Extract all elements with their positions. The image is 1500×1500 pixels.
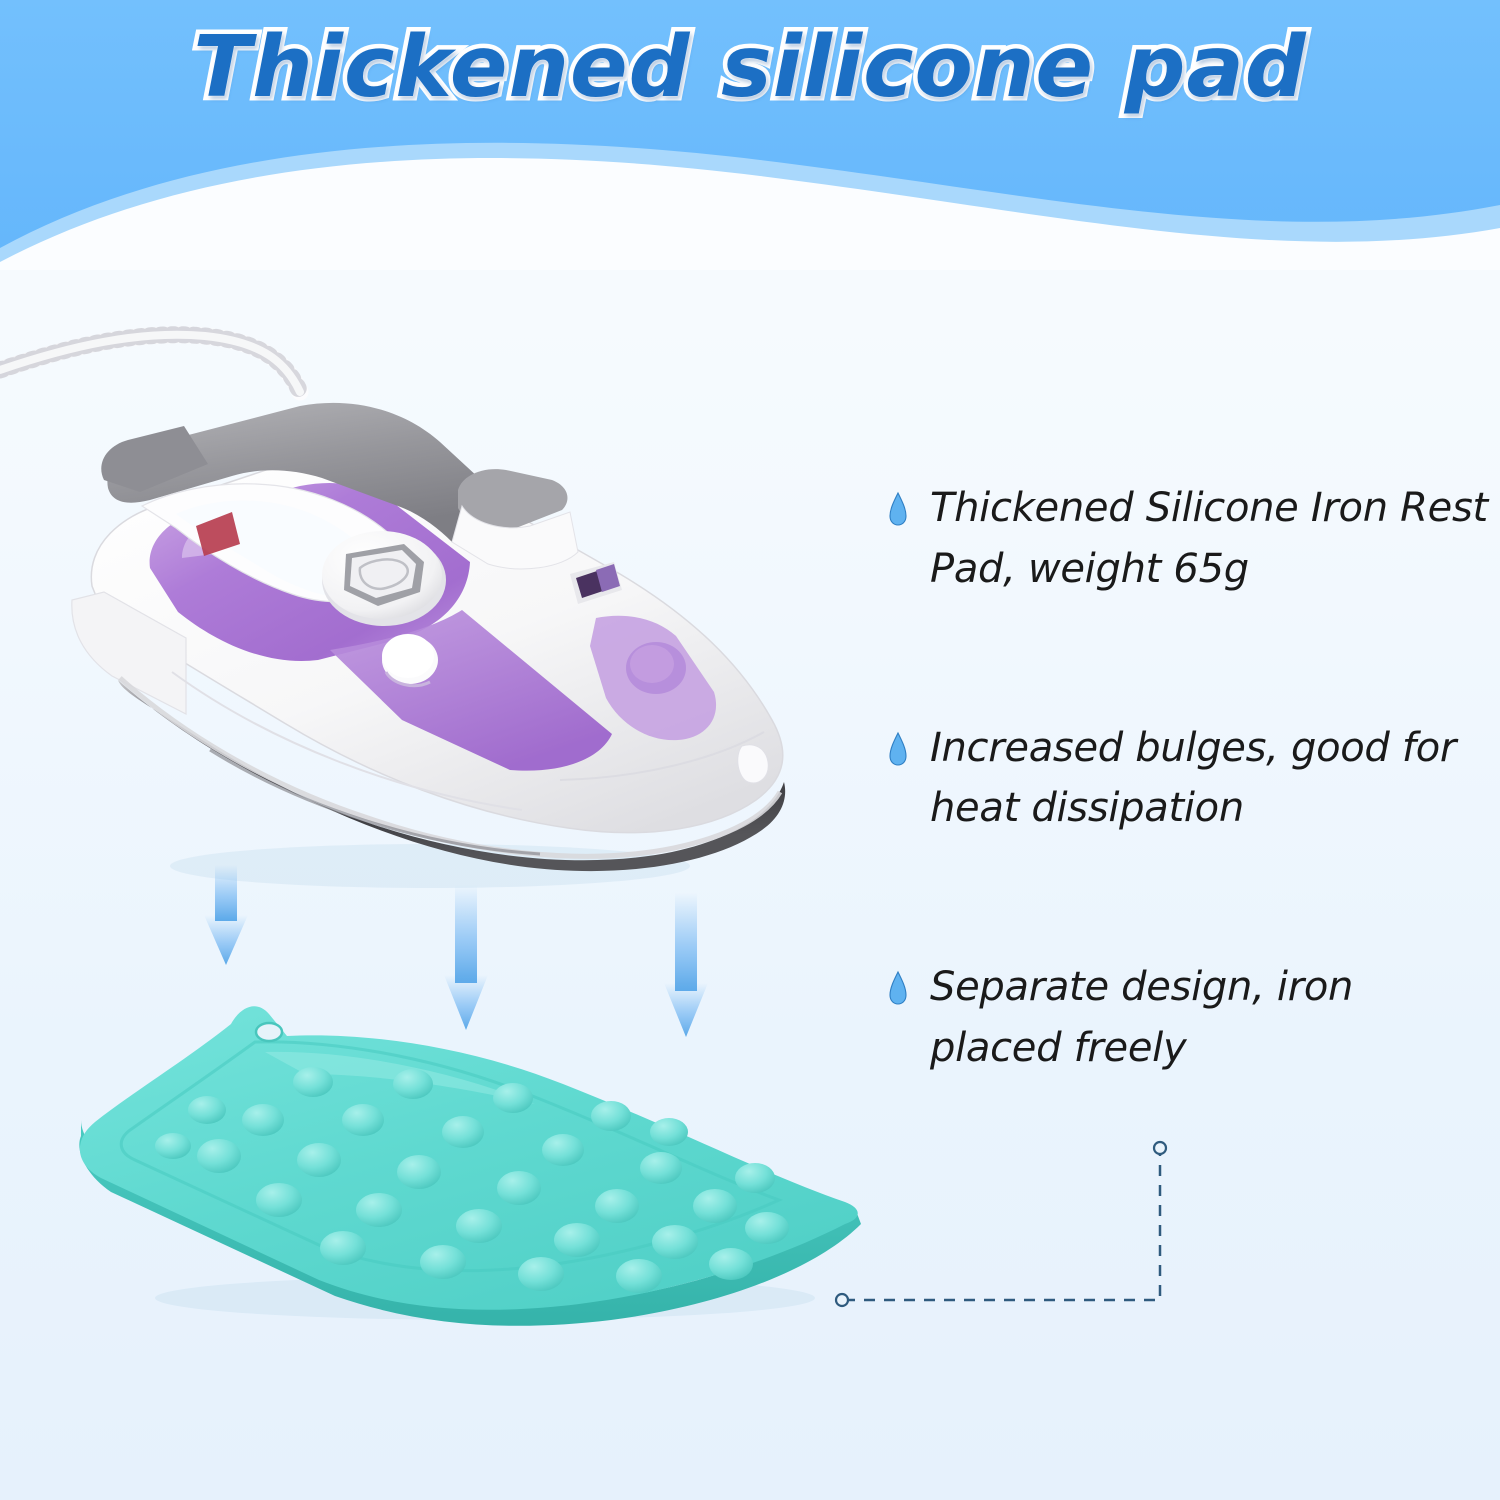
feature-item-3: Separate design, iron placed freely [888,957,1488,1079]
hanging-hole [256,1023,282,1041]
silicone-pad-image [55,980,895,1330]
feature-text-2: Increased bulges, good for heat dissipat… [930,718,1488,840]
feature-item-1: Thickened Silicone Iron Rest Pad, weight… [888,478,1488,600]
header-banner: Thickened silicone pad [0,0,1500,270]
feature-text-1: Thickened Silicone Iron Rest Pad, weight… [930,478,1488,600]
callout-endpoint-top [1154,1142,1166,1154]
feature-item-2: Increased bulges, good for heat dissipat… [888,718,1488,840]
page-title: Thickened silicone pad [0,18,1500,117]
iron-drop-icon [888,971,908,1005]
arrow-left [204,865,248,965]
callout-endpoint-left [836,1294,848,1306]
power-cord [0,335,300,392]
iron-drop-icon [888,732,908,766]
feature-text-3: Separate design, iron placed freely [930,957,1488,1079]
iron-drop-icon [888,492,908,526]
feature-list: Thickened Silicone Iron Rest Pad, weight… [888,478,1488,1079]
iron-image [0,300,880,920]
infographic-page: Thickened silicone pad [0,0,1500,1500]
callout-dashed-line [844,1152,1160,1300]
dimension-callout [820,1120,1220,1320]
